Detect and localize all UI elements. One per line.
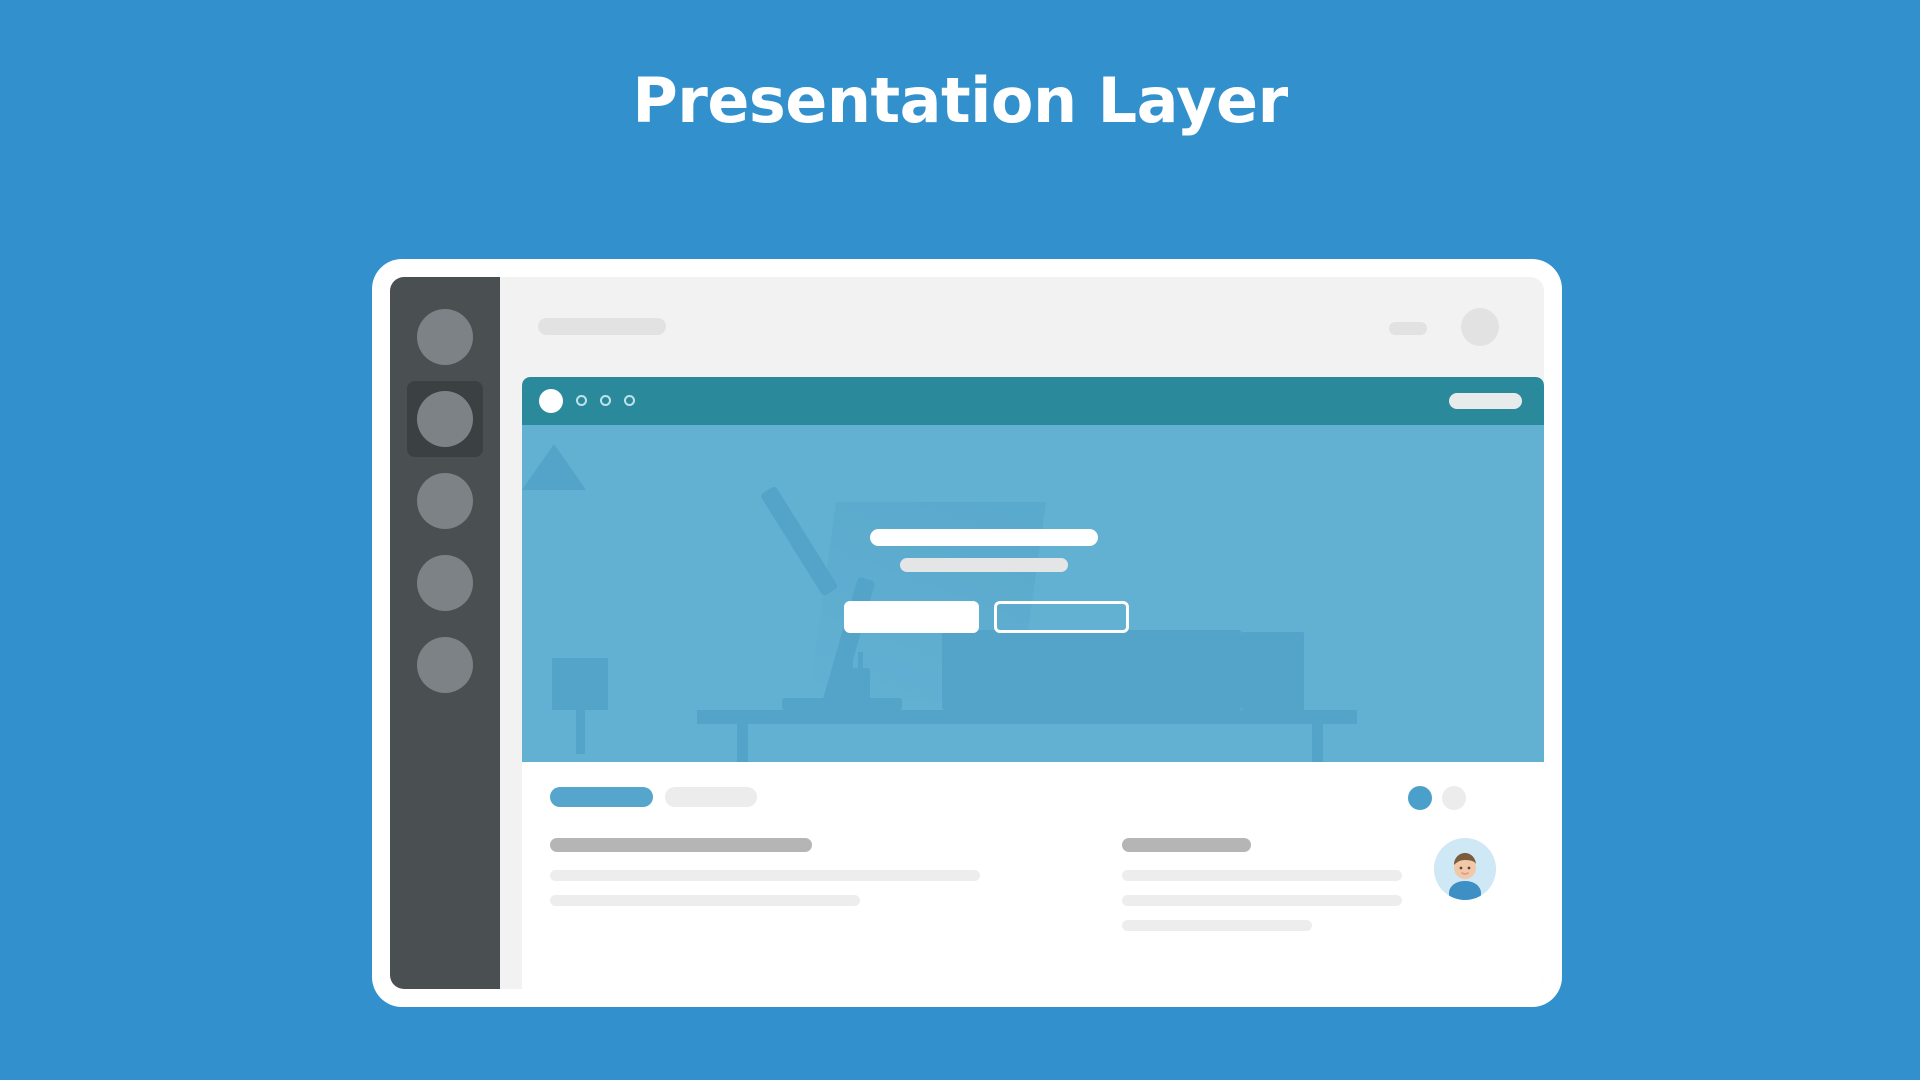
browser-chrome [522,377,1544,425]
sidebar [390,277,500,989]
pen-shape [858,652,863,672]
circle-icon [417,309,473,365]
tab-0[interactable] [550,787,653,807]
column-body-line [550,895,860,906]
sidebar-item-4[interactable] [407,627,483,703]
app-panel [500,277,1544,989]
hero-headline [870,529,1098,546]
circle-icon [417,391,473,447]
user-avatar[interactable] [1434,838,1496,900]
circle-outline-icon[interactable] [600,395,611,406]
lamp-head-shape [522,425,586,490]
content-column-right [1122,838,1402,945]
content-column-left [550,838,980,920]
pagination-dot-0[interactable] [1408,786,1432,810]
chair-back-shape [552,658,608,710]
sidebar-item-3[interactable] [407,545,483,621]
page-title: Presentation Layer [0,70,1920,132]
sidebar-item-1[interactable] [407,381,483,457]
app-bar [500,277,1544,377]
circle-icon [417,637,473,693]
hero-section [522,425,1544,762]
sidebar-item-2[interactable] [407,463,483,539]
desk-surface-shape [697,710,1357,724]
content-section [522,762,1544,957]
column-heading [550,838,812,852]
lamp-arm-shape [760,485,839,596]
column-body-line [1122,870,1402,881]
menu-dash-icon[interactable] [1389,322,1427,335]
chair-stem-shape [576,708,585,754]
hero-subheadline [900,558,1068,572]
tablet-frame [372,259,1562,1007]
sidebar-item-0[interactable] [407,299,483,375]
lamp-base-shape [782,698,902,710]
browser-window [522,377,1544,989]
search-input[interactable] [538,318,666,335]
plant-pot-shape [1167,680,1201,710]
desk-leg-shape [1312,722,1323,762]
circle-outline-icon[interactable] [624,395,635,406]
column-body-line [1122,895,1402,906]
column-heading [1122,838,1251,852]
person-avatar-icon [1434,838,1496,900]
page-root: Presentation Layer [0,0,1920,1080]
avatar[interactable] [1461,308,1499,346]
circle-icon [417,473,473,529]
browser-logo-icon [539,389,563,413]
circle-outline-icon[interactable] [576,395,587,406]
circle-icon [417,555,473,611]
hero-primary-button[interactable] [844,601,979,633]
column-body-line [550,870,980,881]
desk-leg-shape [737,722,748,762]
pagination-dot-1[interactable] [1442,786,1466,810]
address-bar[interactable] [1449,393,1522,409]
box-shape [1242,632,1304,710]
column-body-line [1122,920,1312,931]
hero-secondary-button[interactable] [994,601,1129,633]
tab-1[interactable] [665,787,757,807]
tablet-screen [390,277,1544,989]
